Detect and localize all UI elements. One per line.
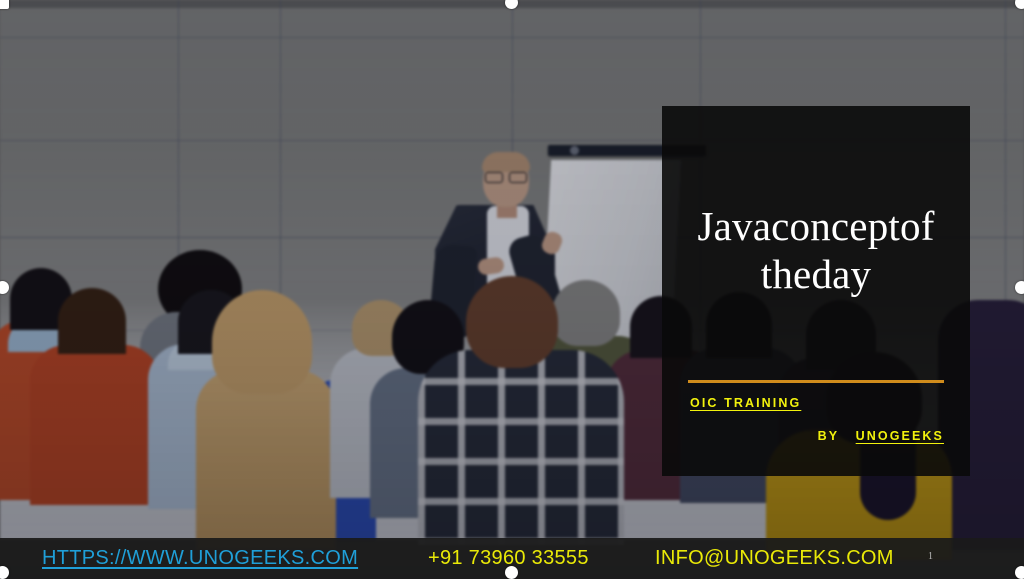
byline: BY UNOGEEKS [818, 429, 944, 443]
byline-brand-name: UNOGEEKS [856, 429, 944, 443]
title-divider-rule [688, 380, 944, 383]
handle-bottom-right[interactable] [1015, 566, 1024, 579]
handle-bottom-center[interactable] [505, 566, 518, 579]
handle-top-left[interactable] [0, 0, 9, 9]
course-category-label: OIC TRAINING [690, 396, 801, 410]
slide-title: Javaconceptof theday [662, 202, 970, 299]
footer-email-address[interactable]: INFO@UNOGEEKS.COM [655, 547, 894, 570]
title-overlay-panel[interactable]: Javaconceptof theday OIC TRAINING BY UNO… [662, 106, 970, 476]
page-number: 1 [928, 551, 933, 562]
footer-website-link[interactable]: HTTPS://WWW.UNOGEEKS.COM [42, 547, 358, 570]
byline-prefix: BY [818, 429, 839, 443]
handle-middle-right[interactable] [1015, 281, 1024, 294]
slide-canvas[interactable]: Javaconceptof theday OIC TRAINING BY UNO… [0, 0, 1024, 579]
